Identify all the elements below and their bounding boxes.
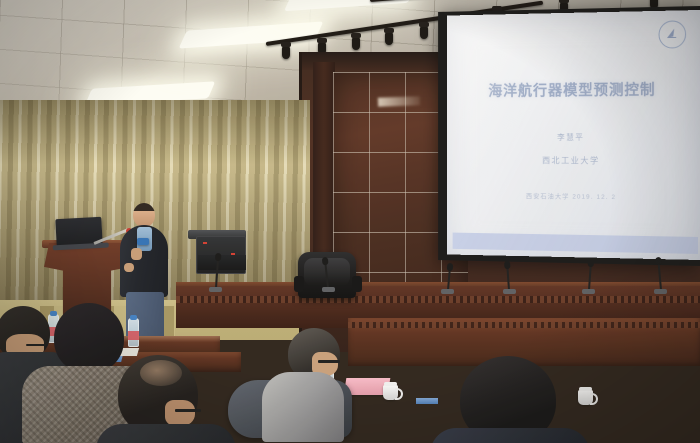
track-spotlight-icon	[352, 37, 360, 50]
eyeglasses	[318, 360, 340, 363]
bottle-cap	[50, 311, 57, 316]
chair-arm	[294, 276, 304, 292]
handheld-microphone	[137, 238, 149, 245]
bottle-label	[128, 331, 139, 340]
lecture-hall-photo: 海洋航行器模型预测控制 李慧平 西北工业大学 西安石油大学 2019. 12. …	[0, 0, 700, 443]
desk-frieze	[348, 322, 700, 328]
attendee-scalp	[140, 360, 182, 386]
presenter-hand	[124, 263, 134, 272]
tea-mug	[578, 390, 593, 405]
panel-reflection	[378, 96, 420, 106]
projection-screen: 海洋航行器模型预测控制 李慧平 西北工业大学 西安石油大学 2019. 12. …	[447, 10, 700, 260]
chair-arm	[352, 276, 362, 292]
attendee-torso	[262, 372, 344, 442]
track-spotlight-icon	[282, 46, 290, 59]
bottle-cap	[130, 315, 137, 320]
microphone-base	[209, 287, 222, 292]
presenter-head	[133, 203, 155, 227]
slide-footer-band	[453, 233, 698, 254]
water-bottle	[128, 318, 139, 347]
track-spotlight-icon	[420, 26, 428, 39]
university-emblem-icon	[659, 20, 687, 48]
attendee-torso	[96, 424, 236, 443]
slide-organization: 西北工业大学	[447, 154, 700, 167]
microphone-base	[322, 287, 335, 292]
track-spotlight-icon	[385, 32, 393, 45]
attendee-head	[54, 303, 124, 373]
led-indicator	[203, 242, 207, 244]
eyeglasses	[26, 344, 48, 346]
eyeglasses	[175, 409, 201, 412]
mug-lid	[384, 382, 397, 386]
microphone-base	[654, 289, 667, 294]
slide-venue-date: 西安石油大学 2019. 12. 2	[447, 189, 700, 202]
microphone-base	[503, 289, 516, 294]
presenter-hand	[131, 248, 142, 260]
attendee-torso	[430, 428, 590, 443]
mug-lid	[579, 387, 592, 391]
tea-mug	[383, 385, 398, 400]
blue-document	[416, 398, 438, 404]
microphone-base	[582, 289, 595, 294]
attendee-face	[165, 400, 195, 426]
presentation-slide: 海洋航行器模型预测控制 李慧平 西北工业大学 西安石油大学 2019. 12. …	[447, 10, 700, 260]
slide-author: 李慧平	[447, 132, 700, 143]
av-equipment-lower	[198, 255, 246, 270]
head-table-frieze	[176, 296, 700, 303]
microphone-base	[441, 289, 454, 294]
slide-title: 海洋航行器模型预测控制	[447, 78, 700, 101]
